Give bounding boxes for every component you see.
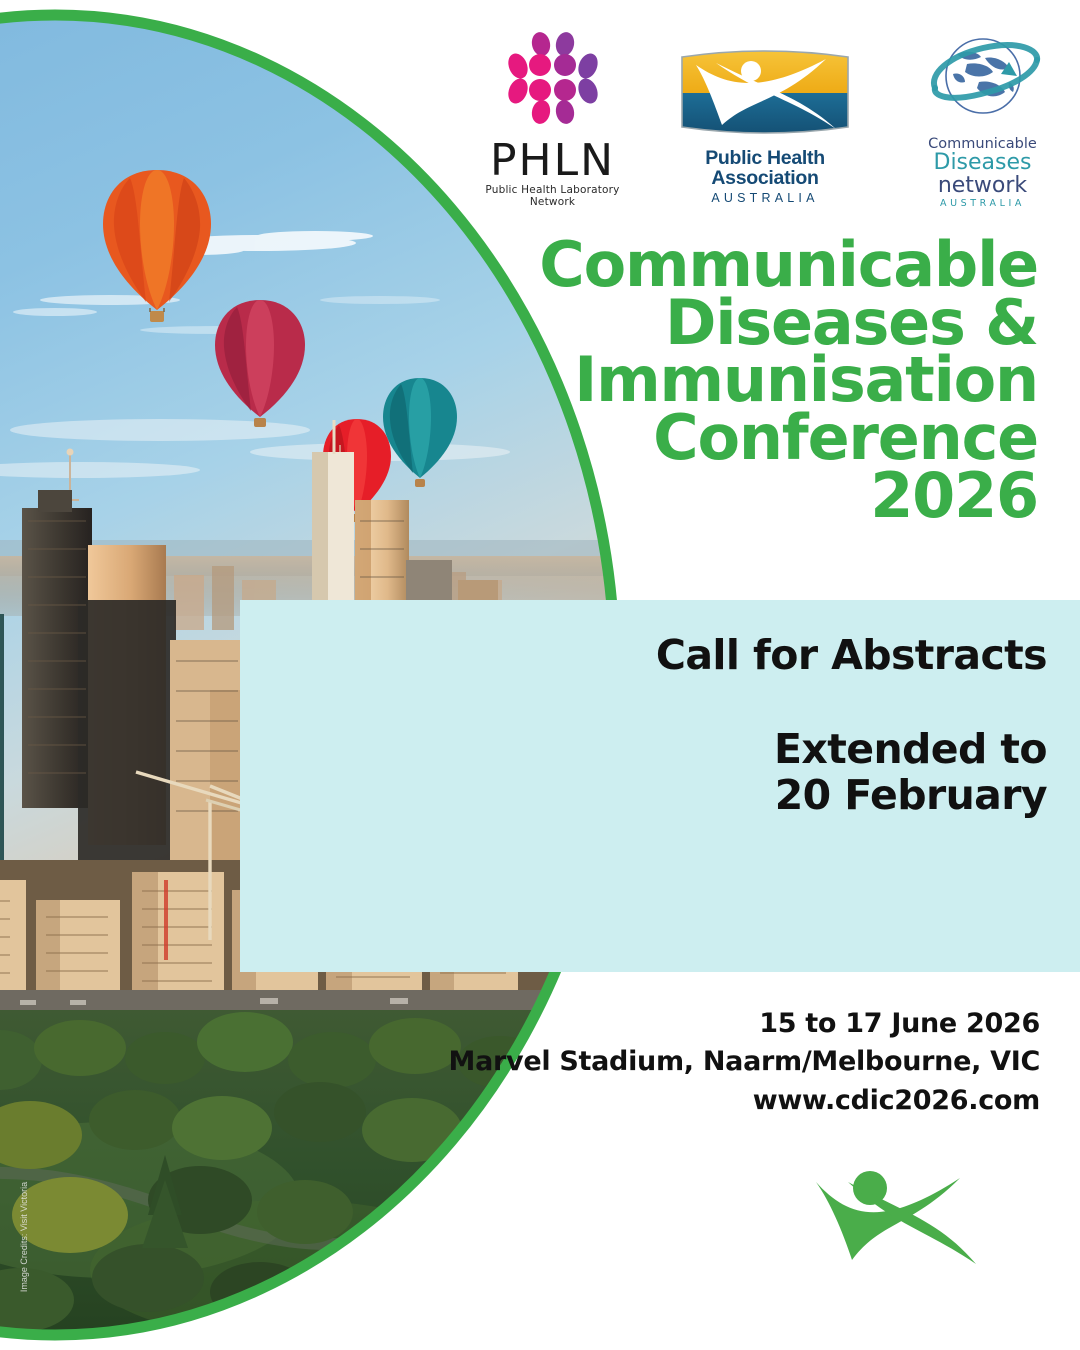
deadline-line-2: 20 February <box>605 773 1047 819</box>
title-line-5: 2026 <box>398 467 1038 525</box>
event-venue: Marvel Stadium, Naarm/Melbourne, VIC <box>420 1043 1040 1081</box>
phln-logo: PHLN Public Health Laboratory Network <box>465 32 640 208</box>
partner-logos: PHLN Public Health Laboratory Network <box>455 22 1075 202</box>
cdna-line2: Diseases <box>895 152 1070 174</box>
call-band-text: Call for Abstracts Extended to 20 Februa… <box>605 600 1065 972</box>
cdna-line3: network <box>895 175 1070 197</box>
phaa-country: AUSTRALIA <box>660 191 870 205</box>
poster-canvas: PHLN Public Health Laboratory Network <box>0 0 1080 1350</box>
dot-sphere-icon <box>499 32 607 132</box>
deadline-line-1: Extended to <box>605 727 1047 773</box>
flag-figure-icon <box>676 47 854 139</box>
cdna-logo: Communicable Diseases network AUSTRALIA <box>895 28 1070 209</box>
cdna-line4: AUSTRALIA <box>895 198 1070 209</box>
phaa-name: Public Health Association <box>660 148 870 189</box>
title-line-1: Communicable <box>398 236 1038 294</box>
globe-orbit-icon <box>923 28 1043 132</box>
event-website[interactable]: www.cdic2026.com <box>420 1082 1040 1120</box>
conference-title: Communicable Diseases & Immunisation Con… <box>398 236 1038 524</box>
phln-full-name: Public Health Laboratory Network <box>465 184 640 208</box>
deadline-text: Extended to 20 February <box>605 727 1047 819</box>
event-dates: 15 to 17 June 2026 <box>420 1005 1040 1043</box>
green-running-figure-icon <box>808 1168 1008 1298</box>
phln-acronym: PHLN <box>465 139 640 183</box>
phaa-logo: Public Health Association AUSTRALIA <box>660 47 870 205</box>
image-credit: Image Credits: Visit Victoria <box>19 1177 29 1297</box>
call-for-abstracts-heading: Call for Abstracts <box>605 634 1047 677</box>
title-line-4: Conference <box>398 409 1038 467</box>
event-details: 15 to 17 June 2026 Marvel Stadium, Naarm… <box>420 1005 1040 1120</box>
